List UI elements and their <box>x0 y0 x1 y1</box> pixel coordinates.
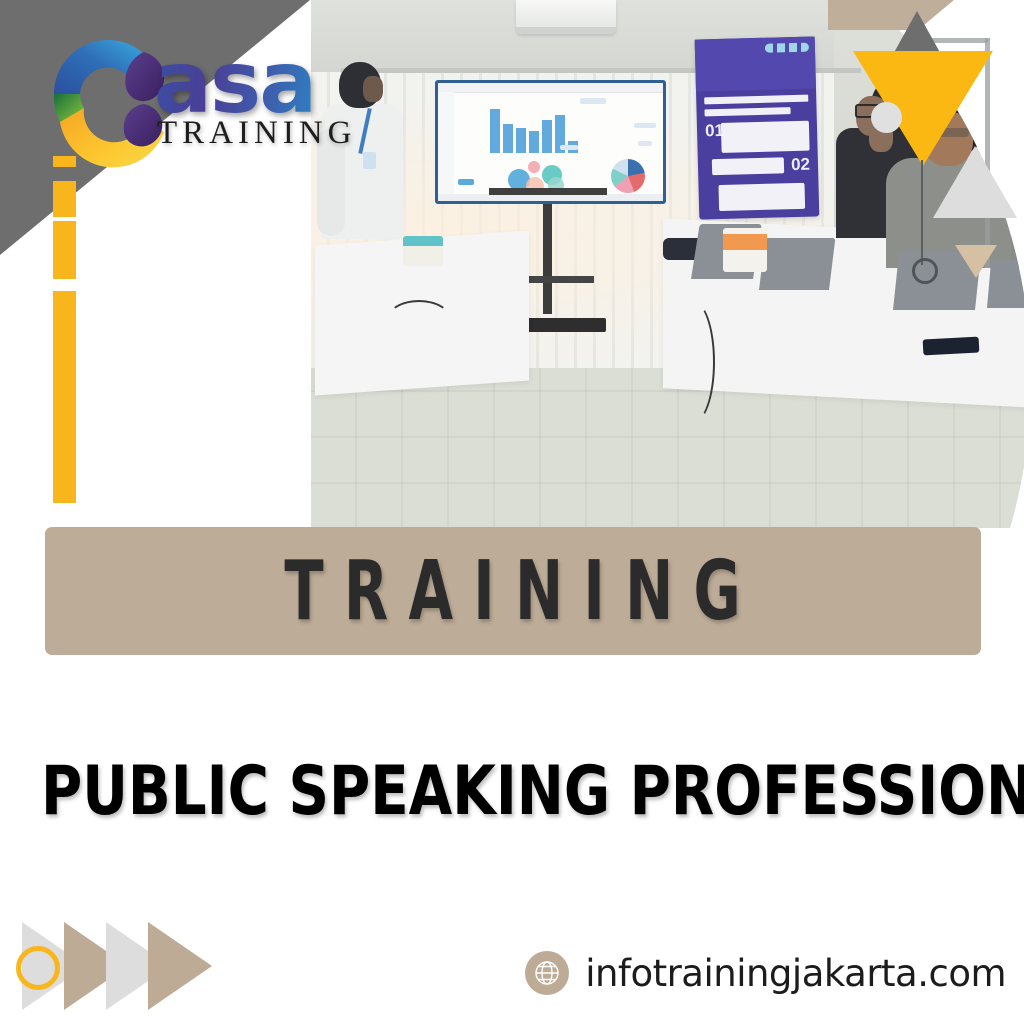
dashed-vertical-line-yellow <box>53 221 76 279</box>
ceiling-rail-vertical <box>985 38 990 268</box>
bar <box>542 120 552 153</box>
bar <box>529 131 539 153</box>
ceiling-rail-hook <box>930 38 988 43</box>
website-url: infotrainingjakarta.com <box>585 952 1006 995</box>
logo-subtitle: TRAINING <box>157 115 356 152</box>
pie-chart <box>611 159 645 193</box>
circle-grey-icon <box>871 102 902 133</box>
hanging-line <box>921 160 923 265</box>
dashed-vertical-line-yellow <box>53 181 76 217</box>
laptop <box>759 238 835 290</box>
chevron-right-icon <box>148 922 212 1010</box>
globe-icon <box>525 951 569 995</box>
presentation-display <box>435 80 666 204</box>
tissue-box <box>723 228 767 272</box>
poster-canvas: 01 02 <box>0 0 1024 1024</box>
circle-outline-icon <box>16 946 60 990</box>
tissue-box <box>403 236 443 266</box>
training-banner: TRAINING <box>45 527 981 655</box>
website-footer[interactable]: infotrainingjakarta.com <box>525 951 1006 995</box>
bar <box>490 109 500 153</box>
dashed-vertical-line-yellow <box>53 291 76 503</box>
logo-wordmark: asa <box>154 48 356 119</box>
page-title: PUBLIC SPEAKING PROFESSIONAL <box>41 752 983 831</box>
bar <box>516 128 526 153</box>
laptop <box>987 260 1024 308</box>
bar <box>503 124 513 153</box>
training-banner-label: TRAINING <box>265 544 762 639</box>
smartphone <box>923 337 980 356</box>
air-conditioner-icon <box>516 0 616 34</box>
roll-up-banner: 01 02 <box>695 36 820 219</box>
circle-outline-icon <box>912 258 938 284</box>
name-badge <box>363 152 376 169</box>
